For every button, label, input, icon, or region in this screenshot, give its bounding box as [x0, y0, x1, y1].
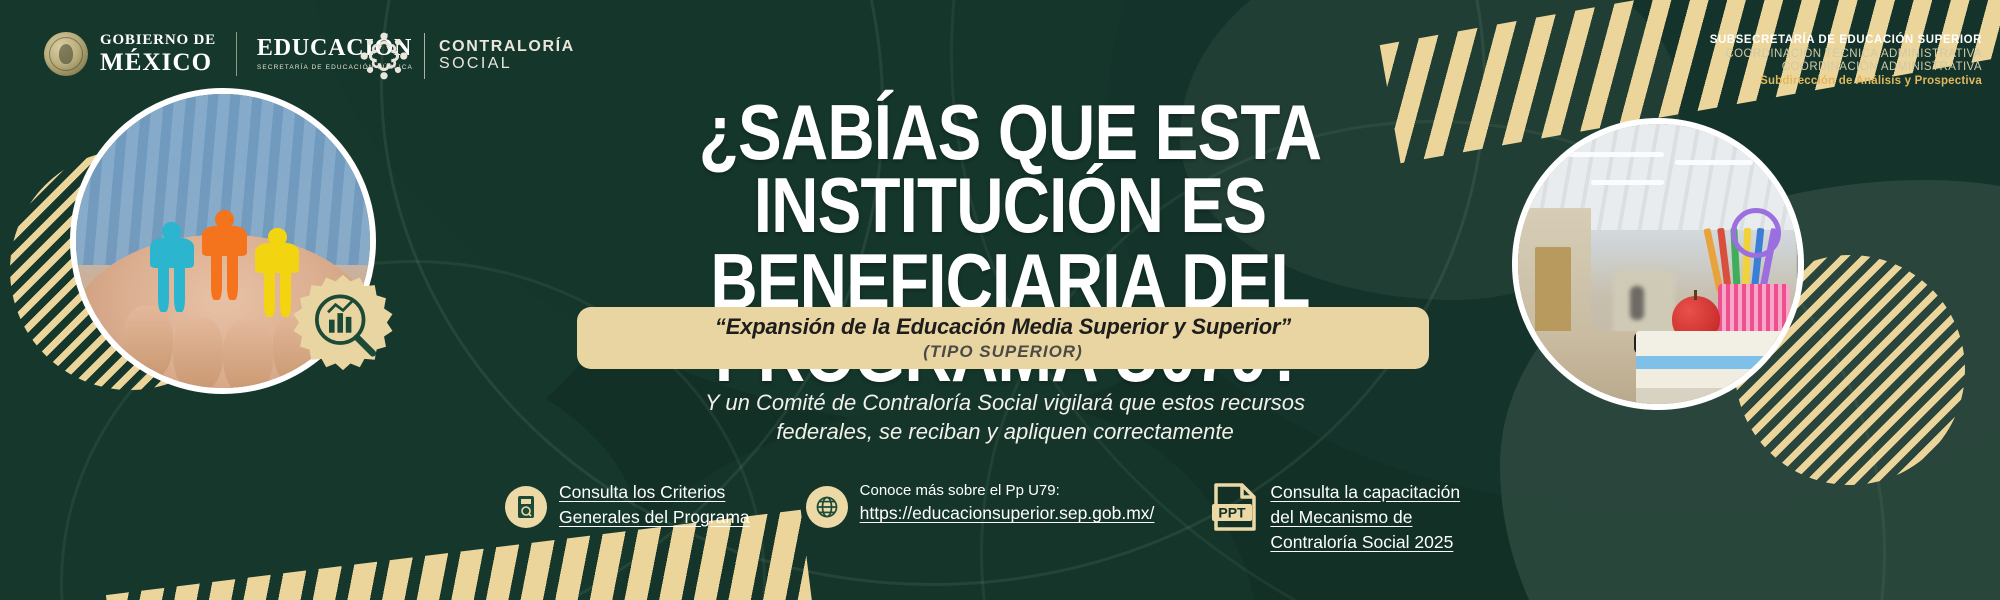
link-pp-u79[interactable]: Conoce más sobre el Pp U79: https://educ… [806, 480, 1155, 528]
paper-figure-orange-icon [202, 210, 246, 300]
contraloria-social-logo: CONTRALORÍA SOCIAL [358, 30, 575, 82]
gobierno-line1: GOBIERNO DE [100, 33, 216, 48]
department-line-1: SUBSECRETARÍA DE EDUCACIÓN SUPERIOR [1710, 34, 1982, 48]
program-type: (TIPO SUPERIOR) [923, 342, 1083, 362]
document-icon [505, 486, 547, 528]
mexico-coat-of-arms-icon [44, 32, 88, 76]
program-name: “Expansión de la Educación Media Superio… [715, 314, 1291, 340]
logo-divider [236, 32, 237, 76]
description-line-1: Y un Comité de Contraloría Social vigila… [600, 388, 1410, 417]
link-capacitacion-line-3[interactable]: Contraloría Social 2025 [1270, 530, 1460, 555]
link-criterios-line-2[interactable]: Generales del Programa [559, 505, 750, 530]
link-capacitacion-ppt[interactable]: PPT Consulta la capacitación del Mecanis… [1212, 480, 1460, 555]
link-pp-u79-label: Conoce más sobre el Pp U79: [860, 480, 1155, 501]
ppt-file-icon: PPT [1212, 482, 1258, 532]
school-hallway-supplies-photo [1512, 118, 1804, 410]
globe-icon [806, 486, 848, 528]
link-criterios-generales[interactable]: Consulta los Criterios Generales del Pro… [505, 480, 750, 530]
department-line-4: Subdirección de Análisis y Prospectiva [1710, 75, 1982, 89]
link-criterios-line-1[interactable]: Consulta los Criterios [559, 480, 750, 505]
promotional-banner: GOBIERNO DE MÉXICO EDUCACIÓN SECRETARÍA … [0, 0, 2000, 600]
program-name-banner: “Expansión de la Educación Media Superio… [577, 307, 1429, 369]
link-capacitacion-line-1[interactable]: Consulta la capacitación [1270, 480, 1460, 505]
description-line-2: federales, se reciban y apliquen correct… [600, 417, 1410, 446]
magnifier-bar-chart-badge-icon [287, 273, 399, 385]
ppt-icon-label: PPT [1219, 505, 1247, 521]
contraloria-line2: SOCIAL [439, 56, 575, 73]
description-text: Y un Comité de Contraloría Social vigila… [600, 388, 1410, 446]
contraloria-line1: CONTRALORÍA [439, 39, 575, 56]
paper-figure-teal-icon [150, 222, 194, 312]
department-line-2: COORDINACIÓN TÉCNICA ADMINISTRATIVA [1710, 48, 1982, 62]
department-block: SUBSECRETARÍA DE EDUCACIÓN SUPERIOR COOR… [1710, 34, 1982, 88]
contraloria-social-people-icon [358, 30, 410, 82]
link-capacitacion-line-2[interactable]: del Mecanismo de [1270, 505, 1460, 530]
headline-line-1: ¿SABÍAS QUE ESTA INSTITUCIÓN ES [598, 96, 1421, 241]
gobierno-line2: MÉXICO [100, 50, 216, 75]
books-stack-icon [1636, 331, 1793, 404]
contraloria-divider [424, 33, 425, 79]
link-pp-u79-url[interactable]: https://educacionsuperior.sep.gob.mx/ [860, 501, 1155, 526]
link-row: Consulta los Criterios Generales del Pro… [505, 480, 1625, 560]
department-line-3: COORDINACIÓN ADMINISTRATIVA [1710, 61, 1982, 75]
